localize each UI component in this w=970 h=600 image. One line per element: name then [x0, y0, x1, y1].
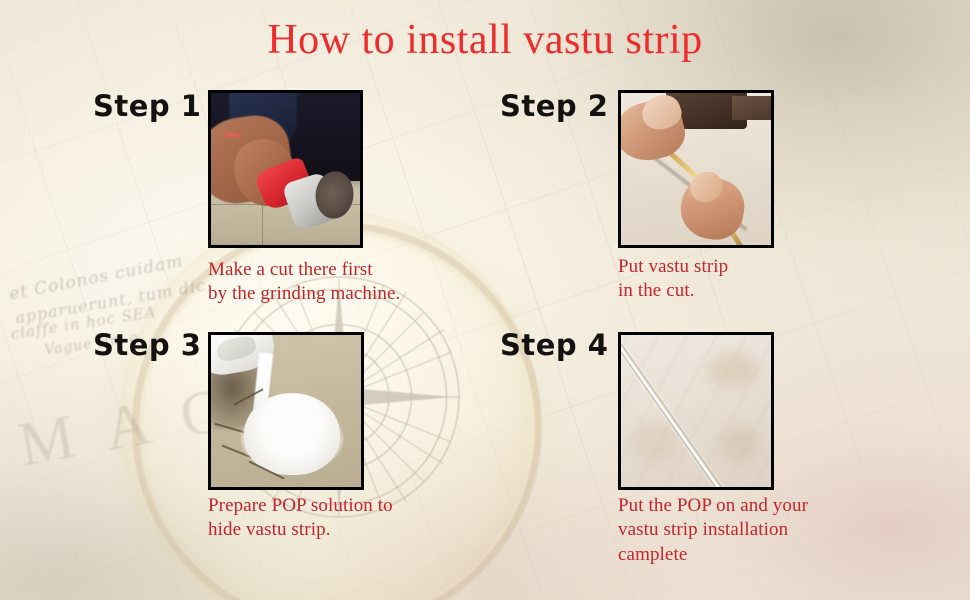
step-label-4: Step 4	[500, 328, 608, 362]
step-photo-3	[208, 332, 364, 490]
page-title: How to install vastu strip	[0, 17, 970, 63]
step-photo-1	[208, 90, 363, 248]
step-label-3: Step 3	[93, 328, 201, 362]
step-photo-4	[618, 332, 774, 490]
step-caption-3: Prepare POP solution to hide vastu strip…	[208, 494, 478, 543]
step-photo-2	[618, 90, 774, 248]
step-caption-2: Put vastu strip in the cut.	[618, 255, 868, 304]
step-label-2: Step 2	[500, 89, 608, 123]
step-caption-4: Put the POP on and your vastu strip inst…	[618, 494, 888, 567]
step-label-1: Step 1	[93, 89, 201, 123]
step-caption-1: Make a cut there first by the grinding m…	[208, 258, 458, 307]
infographic-poster: et Colonos cuidam apparuerunt, tum dic c…	[0, 0, 970, 600]
